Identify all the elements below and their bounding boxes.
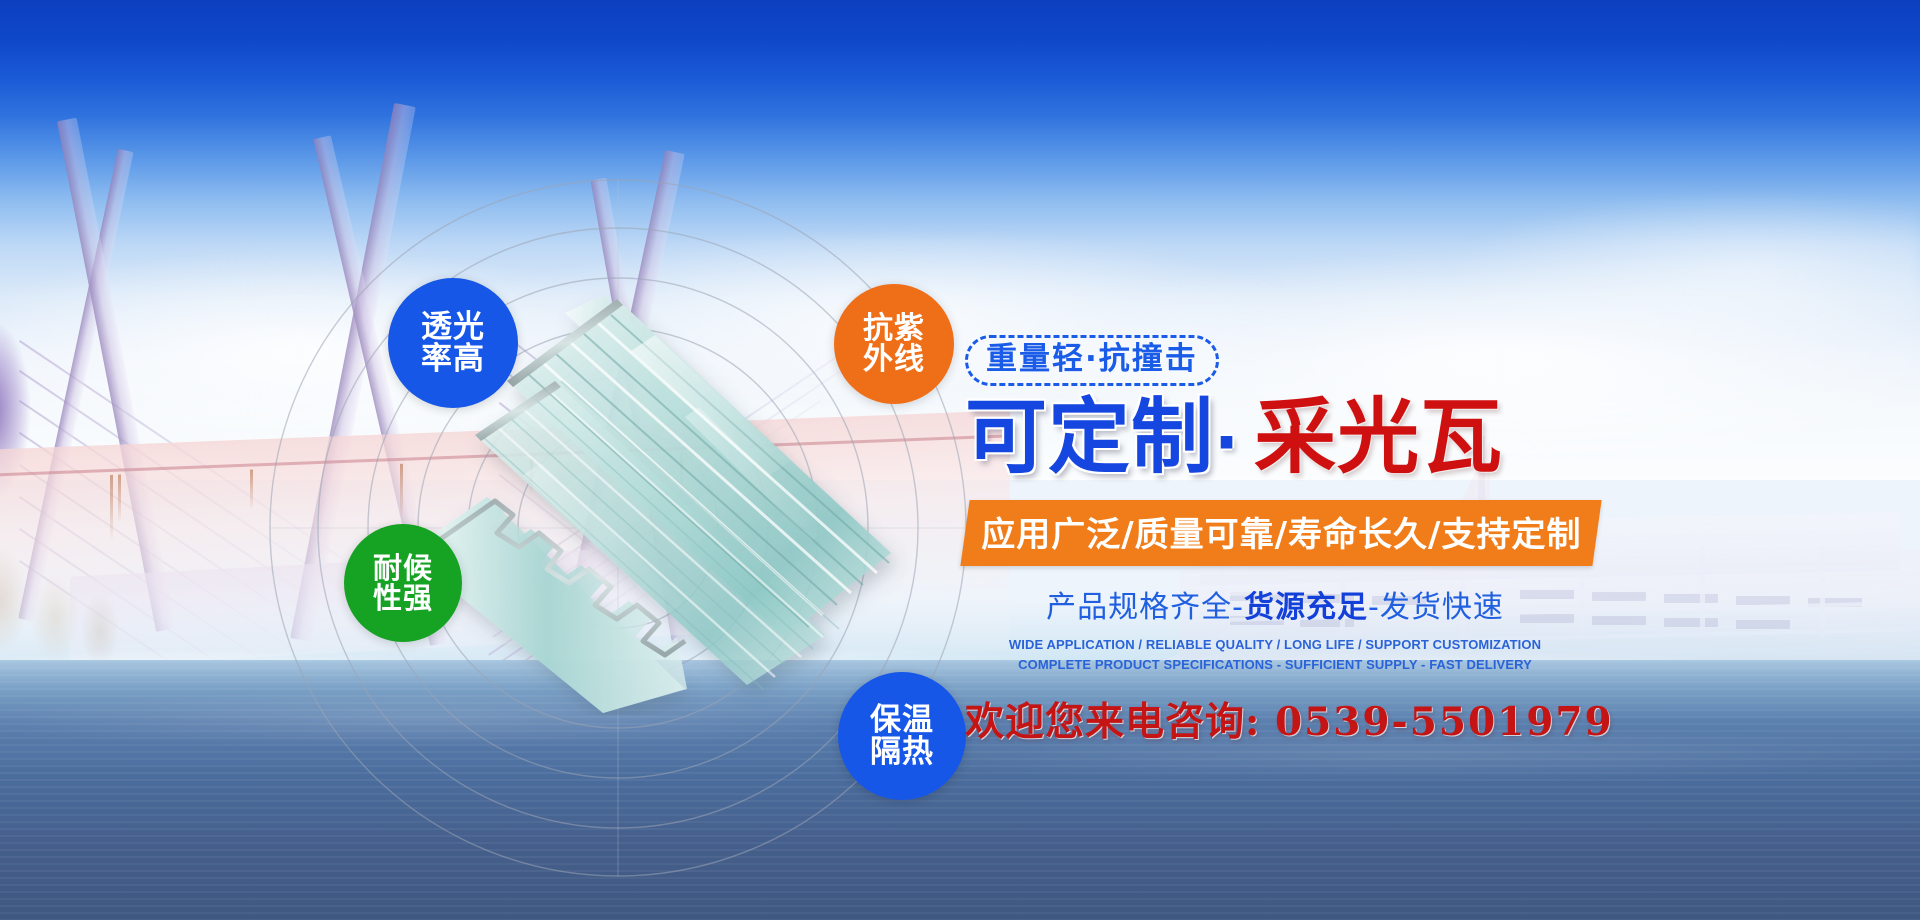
subline-part-2: -发货快速 (1368, 590, 1504, 625)
badge-thermal-insulation: 保温 隔热 (838, 672, 966, 800)
copy-block: 重量轻·抗撞击 可定制·采光瓦 应用广泛/质量可靠/寿命长久/支持定制 产品规格… (965, 335, 1645, 747)
badge-line-2: 率高 (421, 343, 485, 375)
english-line-1: WIDE APPLICATION / RELIABLE QUALITY / LO… (965, 635, 1585, 655)
headline-separator-dot: · (1214, 404, 1240, 481)
badge-line-2: 外线 (863, 344, 925, 375)
headline-product-name: 采光瓦 (1254, 390, 1503, 485)
badge-weather-resistant: 耐候 性强 (344, 524, 462, 642)
tagline-pill: 重量轻·抗撞击 (965, 335, 1219, 386)
headline: 可定制·采光瓦 (965, 396, 1645, 480)
badge-line-1: 耐候 (373, 553, 433, 583)
subline: 产品规格齐全-货源充足-发货快速 (965, 582, 1585, 626)
badge-line-1: 透光 (421, 311, 485, 343)
badge-line-2: 隔热 (870, 736, 934, 768)
badge-line-2: 性强 (373, 583, 433, 613)
feature-bar-text: 应用广泛/质量可靠/寿命长久/支持定制 (981, 507, 1581, 556)
headline-customizable: 可定制 (965, 390, 1214, 485)
promo-banner: 透光 率高 抗紫 外线 耐候 性强 保温 隔热 重量轻·抗撞击 可定制·采光瓦 … (0, 0, 1920, 920)
contact-line: 欢迎您来电咨询: 0539-5501979 (965, 691, 1585, 747)
phone-number[interactable]: 0539-5501979 (1275, 699, 1614, 745)
subline-emphasis: 货源充足 (1244, 590, 1368, 625)
subline-part-1: 产品规格齐全- (1046, 590, 1244, 625)
badge-uv-resistant: 抗紫 外线 (834, 284, 954, 404)
badge-light-transmittance: 透光 率高 (388, 278, 518, 408)
feature-bar: 应用广泛/质量可靠/寿命长久/支持定制 (960, 500, 1602, 566)
english-subtitles: WIDE APPLICATION / RELIABLE QUALITY / LO… (965, 635, 1585, 675)
badge-line-1: 抗紫 (863, 313, 925, 344)
english-line-2: COMPLETE PRODUCT SPECIFICATIONS - SUFFIC… (965, 655, 1585, 675)
phone-label: 欢迎您来电咨询: (965, 699, 1260, 745)
badge-line-1: 保温 (870, 704, 934, 736)
